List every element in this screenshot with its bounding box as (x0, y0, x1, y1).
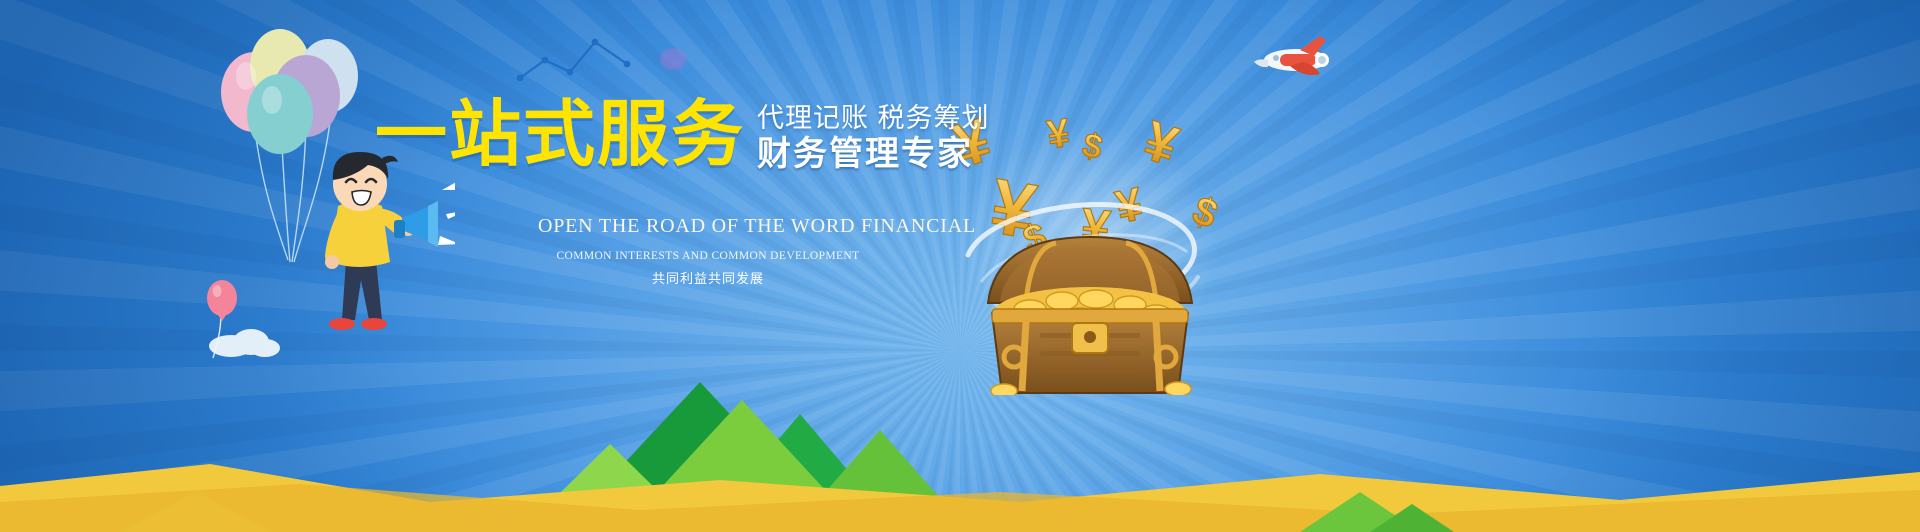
title-side-block: 代理记账 税务筹划 财务管理专家 (757, 96, 990, 174)
financial-service-banner: ¥ ¥ ¥ $ ¥ ¥ $ $ ¥ (0, 0, 1920, 532)
banner-copy: 一站式服务 代理记账 税务筹划 财务管理专家 OPEN THE ROAD OF … (0, 0, 1920, 532)
subtitle-block: OPEN THE ROAD OF THE WORD FINANCIAL COMM… (538, 213, 878, 289)
title-subline-services: 代理记账 税务筹划 (757, 102, 990, 134)
title-row: 一站式服务 代理记账 税务筹划 财务管理专家 (375, 96, 990, 174)
title-subline-expert: 财务管理专家 (757, 134, 990, 174)
subtitle-chinese: 共同利益共同发展 (538, 269, 878, 289)
page-title: 一站式服务 (375, 96, 745, 174)
subtitle-english-primary: OPEN THE ROAD OF THE WORD FINANCIAL (538, 213, 878, 239)
subtitle-english-secondary: COMMON INTERESTS AND COMMON DEVELOPMENT (538, 247, 878, 265)
